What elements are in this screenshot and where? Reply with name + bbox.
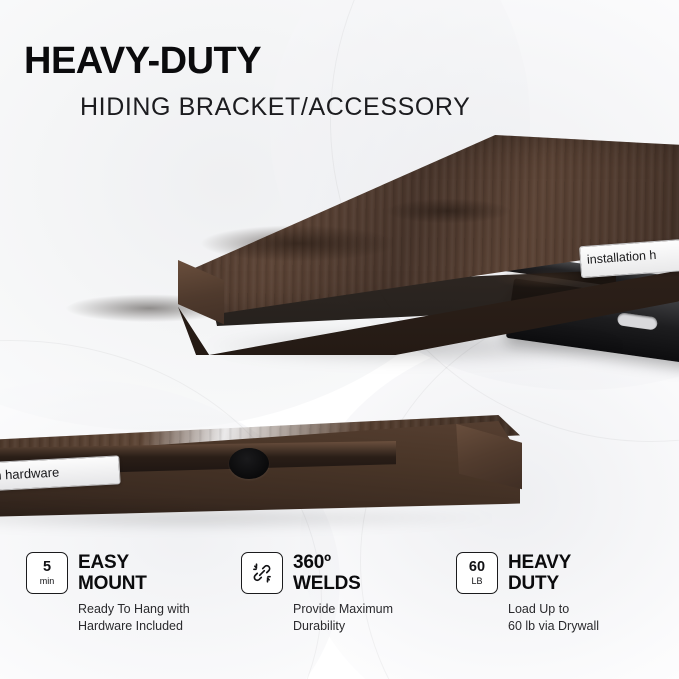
feature-title-line1: 360º <box>293 552 331 573</box>
badge-secondary-text: min <box>40 577 55 586</box>
feature-desc-line1: Ready To Hang with <box>78 602 190 616</box>
badge-secondary-text: LB <box>471 577 482 586</box>
feature-title-line1: HEAVY <box>508 552 571 573</box>
weld-link-icon <box>251 562 273 584</box>
page-subtitle: HIDING BRACKET/ACCESSORY <box>80 94 584 122</box>
feature-title-line2: DUTY <box>508 573 559 594</box>
badge-primary-text: 5 <box>43 560 51 575</box>
feature-title-line2: MOUNT <box>78 573 147 594</box>
closeup-shelf-shadow <box>0 505 500 531</box>
page-title: HEAVY-DUTY <box>24 42 584 82</box>
feature-desc-line1: Provide Maximum <box>293 602 393 616</box>
feature-text-block: EASY MOUNT Ready To Hang with Hardware I… <box>78 552 190 635</box>
feature-desc-line2: 60 lb via Drywall <box>508 619 599 633</box>
feature-title-line1: EASY <box>78 552 129 573</box>
feature-desc-line2: Durability <box>293 619 345 633</box>
product-infographic: HEAVY-DUTY HIDING BRACKET/ACCESSORY inst… <box>0 0 679 679</box>
headline-block: HEAVY-DUTY HIDING BRACKET/ACCESSORY <box>24 42 584 121</box>
hero-label-text: installation h <box>587 248 657 267</box>
feature-title-line2: WELDS <box>293 573 361 594</box>
mounting-hole <box>229 448 269 479</box>
closeup-label-text: on hardware <box>0 464 60 483</box>
feature-desc-line2: Hardware Included <box>78 619 183 633</box>
badge-60-lb: 60 LB <box>456 552 498 594</box>
feature-text-block: HEAVY DUTY Load Up to 60 lb via Drywall <box>508 552 599 635</box>
feature-row: 5 min EASY MOUNT Ready To Hang with Hard… <box>26 552 656 635</box>
feature-360-welds: 360º WELDS Provide Maximum Durability <box>241 552 456 635</box>
feature-easy-mount: 5 min EASY MOUNT Ready To Hang with Hard… <box>26 552 241 635</box>
feature-heavy-duty: 60 LB HEAVY DUTY Load Up to 60 lb via Dr… <box>456 552 656 635</box>
feature-text-block: 360º WELDS Provide Maximum Durability <box>293 552 393 635</box>
feature-desc-line1: Load Up to <box>508 602 569 616</box>
badge-primary-text: 60 <box>469 560 485 575</box>
hero-product-image: installation h <box>0 130 679 400</box>
badge-5-min: 5 min <box>26 552 68 594</box>
badge-weld-icon <box>241 552 283 594</box>
